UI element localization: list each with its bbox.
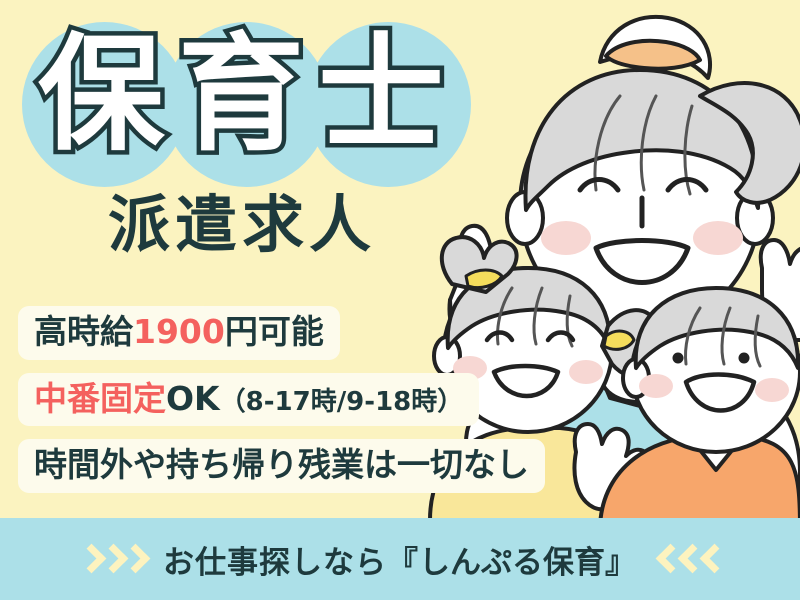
teacher-ear-left (507, 192, 543, 244)
chevron-left-icon (703, 544, 720, 574)
child-left-pigtail-1 (442, 237, 517, 292)
banner-brand-name: しんぷる保育 (419, 545, 605, 581)
feature-wage-amount: 1900 (133, 312, 225, 351)
child-right-collar (692, 438, 742, 470)
chevron-right-icon (102, 544, 119, 574)
teacher-mouth (596, 241, 688, 283)
child-right-ear (623, 359, 649, 397)
child-left-hairtie-1 (466, 270, 502, 288)
feature-shift-suffix: OK (166, 379, 220, 418)
chevron-right-group (80, 544, 141, 574)
teacher-cheek-right (693, 221, 743, 255)
teacher-neck (600, 330, 680, 402)
child-right-eye-right (739, 353, 750, 364)
child-right-eye-left (673, 353, 684, 364)
banner-lead-text: お仕事探しなら (163, 545, 387, 581)
banner-message: お仕事探しなら『しんぷる保育』 (163, 537, 637, 582)
feature-list: 高時給1900円可能 中番固定OK（8-17時/9-18時） 時間外や持ち帰り残… (18, 306, 545, 493)
teacher-hair (525, 70, 758, 210)
page-title: 保育士 (38, 32, 458, 158)
feature-wage-suffix: 円可能 (225, 312, 324, 351)
child-left-cheek-right (569, 360, 603, 384)
child-left-pigtail-2 (602, 310, 656, 377)
teacher-eye-left (580, 180, 618, 191)
chevron-left-group (659, 544, 720, 574)
banner-open-bracket: 『 (387, 545, 419, 581)
child-right-mouth (686, 375, 754, 411)
child-right-cheek-right (755, 378, 789, 402)
teacher-top-tuft (600, 17, 710, 78)
poster-root: 保育士 派遣求人 高時給1900円可能 中番固定OK（8-17時/9-18時） … (0, 0, 800, 600)
child-left-hairtie-2 (604, 331, 634, 349)
chevron-right-icon (124, 544, 141, 574)
child-right-head (632, 292, 800, 452)
feature-pill-wage: 高時給1900円可能 (18, 306, 340, 360)
teacher-head (520, 80, 760, 330)
feature-overtime-text: 時間外や持ち帰り残業は一切なし (34, 445, 529, 484)
teacher-ponytail (700, 83, 800, 203)
feature-pill-overtime: 時間外や持ち帰り残業は一切なし (18, 439, 545, 493)
feature-shift-highlight: 中番固定 (34, 379, 166, 418)
banner-close-bracket: 』 (605, 545, 637, 581)
child-right-hand (761, 240, 800, 340)
teacher-cheek-left (541, 221, 591, 255)
feature-pill-shift: 中番固定OK（8-17時/9-18時） (18, 373, 479, 427)
feature-shift-note: （8-17時/9-18時） (220, 387, 464, 417)
child-left-hand (574, 424, 649, 510)
chevron-left-icon (659, 544, 676, 574)
child-right-cheek-left (639, 374, 673, 398)
page-subtitle: 派遣求人 (108, 194, 376, 256)
teacher-ear-right (737, 192, 773, 244)
child-right-hair (636, 288, 798, 368)
teacher-hair-tie (606, 41, 700, 69)
feature-wage-prefix: 高時給 (34, 312, 133, 351)
teacher-eye-right (668, 180, 706, 191)
bottom-banner: お仕事探しなら『しんぷる保育』 (0, 518, 800, 600)
chevron-left-icon (681, 544, 698, 574)
chevron-right-icon (80, 544, 97, 574)
child-left-eye-right (548, 333, 573, 341)
